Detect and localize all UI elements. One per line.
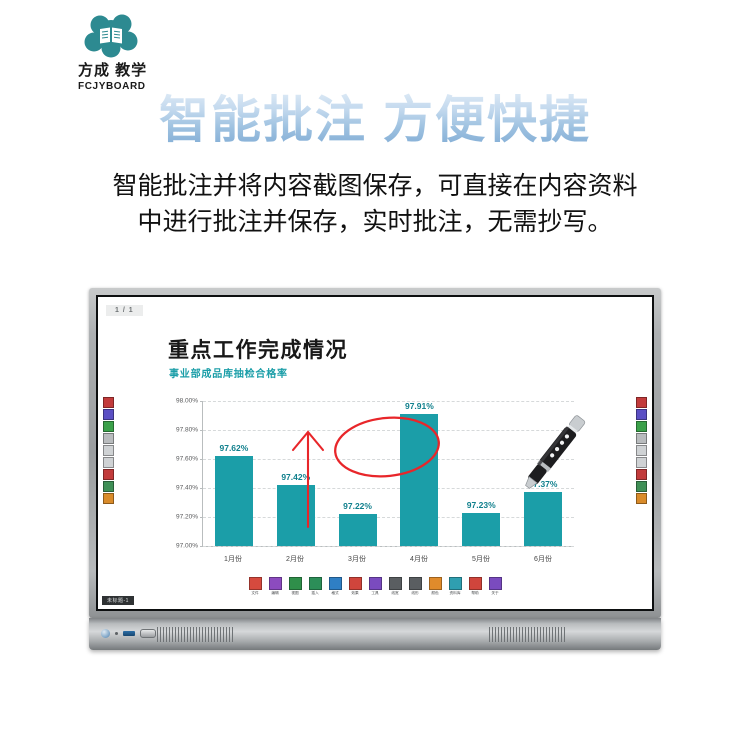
usb-port-icon bbox=[123, 631, 135, 636]
chart-y-tick-label: 97.20% bbox=[176, 514, 198, 521]
undo-tool-icon[interactable] bbox=[103, 445, 114, 456]
slide-subtitle: 事业部成品库抽检合格率 bbox=[169, 365, 288, 380]
chart-bar-label: 97.22% bbox=[343, 501, 372, 511]
chart-y-tick-label: 98.00% bbox=[176, 398, 198, 405]
format-tool-icon[interactable] bbox=[329, 577, 342, 590]
lines-tool-label: 线宽 bbox=[391, 591, 398, 595]
palette-tool-icon[interactable] bbox=[636, 421, 647, 432]
file-tool[interactable]: 文件 bbox=[248, 577, 263, 595]
linestyle-tool[interactable]: 线形 bbox=[408, 577, 423, 595]
right-toolbar[interactable] bbox=[635, 397, 648, 504]
color-tool-label: 颜色 bbox=[431, 591, 438, 595]
status-bar: 未标题-1 bbox=[102, 596, 134, 605]
redo-tool-icon[interactable] bbox=[103, 457, 114, 468]
left-toolbar[interactable] bbox=[102, 397, 115, 504]
chart-y-tick-label: 97.80% bbox=[176, 427, 198, 434]
eraser-tool-icon[interactable] bbox=[103, 433, 114, 444]
chart-bar-label: 97.23% bbox=[467, 500, 496, 510]
speaker-grille-right bbox=[489, 627, 567, 642]
status-led-icon bbox=[115, 632, 118, 635]
chart-bar-label: 97.91% bbox=[405, 401, 434, 411]
display-bezel: 1 / 1 未标题-1 重点工作完成情况 事业部成品库抽检合格率 98.00%9… bbox=[89, 288, 661, 618]
linestyle-tool-label: 线形 bbox=[411, 591, 418, 595]
chart-x-axis: 1月份2月份3月份4月份5月份6月份 bbox=[202, 549, 574, 569]
chart-bar-column: 97.91% bbox=[389, 401, 451, 546]
page-title: 智能批注 方便快捷 bbox=[0, 92, 750, 150]
insert-tool-icon[interactable] bbox=[309, 577, 322, 590]
effect-tool-icon[interactable] bbox=[349, 577, 362, 590]
effect-tool-label: 效果 bbox=[351, 591, 358, 595]
about-tool-icon[interactable] bbox=[489, 577, 502, 590]
chart-bar bbox=[277, 485, 315, 546]
chart-y-tick-label: 97.40% bbox=[176, 485, 198, 492]
bottom-toolbar[interactable]: 文件编辑视图插入格式效果工具线宽线形颜色资料库帮助关于 bbox=[98, 577, 652, 595]
book-tool[interactable]: 资料库 bbox=[448, 577, 463, 595]
tools-tool-label: 工具 bbox=[371, 591, 378, 595]
chart-bar bbox=[215, 456, 253, 546]
device-controls[interactable] bbox=[101, 629, 156, 638]
chart-bar-label: 97.42% bbox=[281, 472, 310, 482]
chart-bar-column: 97.42% bbox=[265, 401, 327, 546]
lines-tool-icon[interactable] bbox=[389, 577, 402, 590]
chart-bar-label: 97.62% bbox=[219, 443, 248, 453]
save-tool-icon[interactable] bbox=[103, 469, 114, 480]
format-tool[interactable]: 格式 bbox=[328, 577, 343, 595]
brand-name-cn: 方成 教学 bbox=[78, 59, 228, 80]
edit-tool[interactable]: 编辑 bbox=[268, 577, 283, 595]
color-tool[interactable]: 颜色 bbox=[428, 577, 443, 595]
page-indicator: 1 / 1 bbox=[106, 305, 143, 316]
undo-tool-icon[interactable] bbox=[636, 445, 647, 456]
linestyle-tool-icon[interactable] bbox=[409, 577, 422, 590]
chart-y-tick-mark bbox=[200, 546, 203, 547]
chart-x-tick-label: 6月份 bbox=[512, 554, 574, 564]
save-tool-icon[interactable] bbox=[636, 469, 647, 480]
about-tool-label: 关于 bbox=[491, 591, 498, 595]
brand-name-en: FCJYBOARD bbox=[78, 81, 228, 92]
description-line-1: 智能批注并将内容截图保存，可直接在内容资料 bbox=[40, 168, 710, 204]
about-tool[interactable]: 关于 bbox=[488, 577, 503, 595]
chart-x-tick-label: 3月份 bbox=[326, 554, 388, 564]
view-tool-label: 视图 bbox=[291, 591, 298, 595]
gallery-tool-icon[interactable] bbox=[103, 481, 114, 492]
eraser-tool-icon[interactable] bbox=[636, 433, 647, 444]
stylus-pen-icon bbox=[506, 405, 602, 501]
chart-x-tick-label: 2月份 bbox=[264, 554, 326, 564]
tools-tool[interactable]: 工具 bbox=[368, 577, 383, 595]
insert-tool-label: 插入 bbox=[311, 591, 318, 595]
chart-bar-column: 97.22% bbox=[327, 401, 389, 546]
chart-bar bbox=[462, 513, 500, 546]
effect-tool[interactable]: 效果 bbox=[348, 577, 363, 595]
page-root: 方成 教学 FCJYBOARD 智能批注 方便快捷 智能批注并将内容截图保存，可… bbox=[0, 0, 750, 736]
insert-tool[interactable]: 插入 bbox=[308, 577, 323, 595]
power-button-icon[interactable] bbox=[101, 629, 110, 638]
view-tool[interactable]: 视图 bbox=[288, 577, 303, 595]
chart-bar-column: 97.23% bbox=[450, 401, 512, 546]
highlighter-tool-icon[interactable] bbox=[103, 409, 114, 420]
speaker-grille-left bbox=[157, 627, 235, 642]
chart-x-tick-label: 1月份 bbox=[202, 554, 264, 564]
screen[interactable]: 1 / 1 未标题-1 重点工作完成情况 事业部成品库抽检合格率 98.00%9… bbox=[98, 297, 652, 609]
chart-y-tick-label: 97.60% bbox=[176, 456, 198, 463]
file-tool-label: 文件 bbox=[251, 591, 258, 595]
logo-mark-icon bbox=[84, 12, 140, 58]
tools-tool-icon[interactable] bbox=[369, 577, 382, 590]
chart-x-tick-label: 5月份 bbox=[450, 554, 512, 564]
pen-tool-icon[interactable] bbox=[636, 397, 647, 408]
color-tool-icon[interactable] bbox=[429, 577, 442, 590]
description-line-2: 中进行批注并保存，实时批注，无需抄写。 bbox=[40, 204, 710, 240]
chart-bar bbox=[339, 514, 377, 546]
bar-chart: 98.00%97.80%97.60%97.40%97.20%97.00% 97.… bbox=[160, 401, 580, 569]
chart-y-tick-label: 97.00% bbox=[176, 543, 198, 550]
settings-tool-icon[interactable] bbox=[103, 493, 114, 504]
chart-bar bbox=[400, 414, 438, 546]
chart-gridline bbox=[203, 546, 574, 547]
gallery-tool-icon[interactable] bbox=[636, 481, 647, 492]
help-tool[interactable]: 帮助 bbox=[468, 577, 483, 595]
pen-tool-icon[interactable] bbox=[103, 397, 114, 408]
edit-tool-label: 编辑 bbox=[271, 591, 278, 595]
book-tool-icon[interactable] bbox=[449, 577, 462, 590]
palette-tool-icon[interactable] bbox=[103, 421, 114, 432]
settings-tool-icon[interactable] bbox=[636, 493, 647, 504]
file-tool-icon[interactable] bbox=[249, 577, 262, 590]
chart-x-tick-label: 4月份 bbox=[388, 554, 450, 564]
lines-tool[interactable]: 线宽 bbox=[388, 577, 403, 595]
display-inner-frame: 1 / 1 未标题-1 重点工作完成情况 事业部成品库抽检合格率 98.00%9… bbox=[96, 295, 654, 611]
redo-tool-icon[interactable] bbox=[636, 457, 647, 468]
format-tool-label: 格式 bbox=[331, 591, 338, 595]
highlighter-tool-icon[interactable] bbox=[636, 409, 647, 420]
device-stand bbox=[89, 618, 661, 650]
help-tool-icon[interactable] bbox=[469, 577, 482, 590]
description-text: 智能批注并将内容截图保存，可直接在内容资料 中进行批注并保存，实时批注，无需抄写… bbox=[40, 168, 710, 241]
chart-bar-column: 97.62% bbox=[203, 401, 265, 546]
slide-title: 重点工作完成情况 bbox=[168, 334, 348, 364]
interactive-whiteboard-device: 1 / 1 未标题-1 重点工作完成情况 事业部成品库抽检合格率 98.00%9… bbox=[89, 288, 661, 656]
hdmi-port-icon bbox=[140, 629, 156, 638]
edit-tool-icon[interactable] bbox=[269, 577, 282, 590]
brand-logo: 方成 教学 FCJYBOARD bbox=[78, 12, 228, 90]
view-tool-icon[interactable] bbox=[289, 577, 302, 590]
book-tool-label: 资料库 bbox=[449, 591, 460, 595]
help-tool-label: 帮助 bbox=[471, 591, 478, 595]
